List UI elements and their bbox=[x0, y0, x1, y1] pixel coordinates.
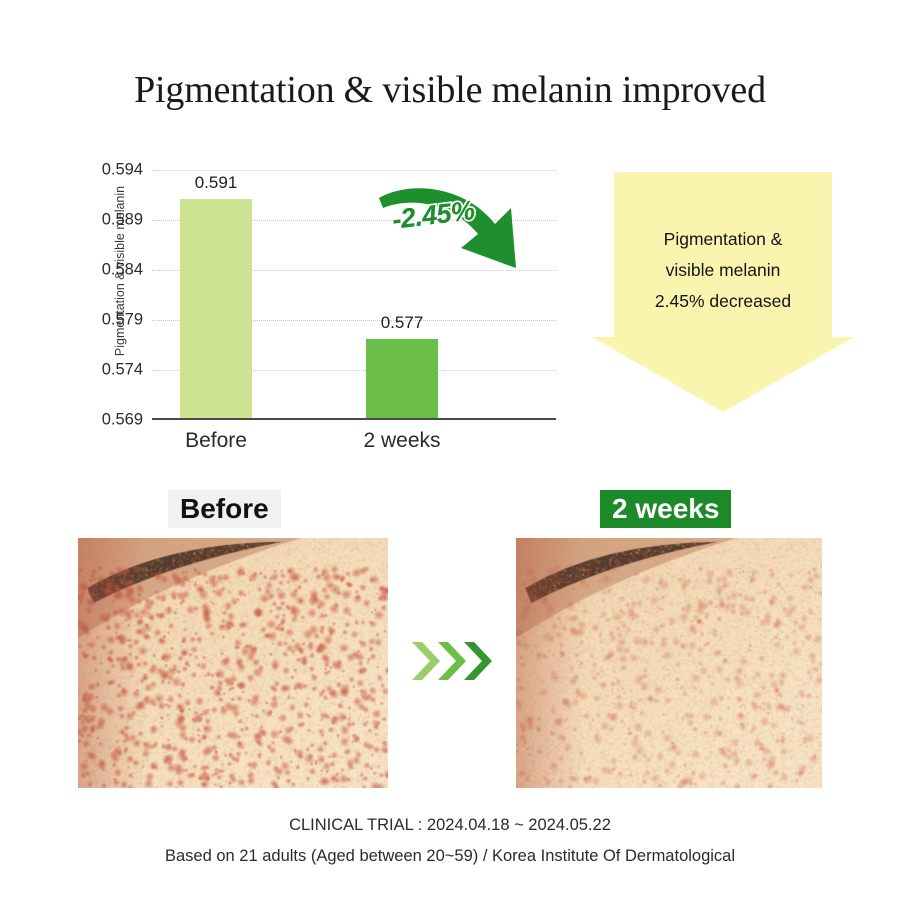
callout-line-2: visible melanin bbox=[592, 255, 854, 286]
x-tick-2weeks: 2 weeks bbox=[327, 429, 477, 453]
bar-chart: Pigmentation & visible melanin 0.5940.58… bbox=[62, 160, 562, 450]
bar-before: 0.591 bbox=[180, 199, 252, 419]
y-tick-label: 0.584 bbox=[102, 261, 143, 280]
chart-plot-area: 0.5940.5890.5840.5790.5740.569 0.591 0.5… bbox=[152, 170, 556, 420]
callout-line-1: Pigmentation & bbox=[592, 224, 854, 255]
y-tick-label: 0.574 bbox=[102, 361, 143, 380]
page-title: Pigmentation & visible melanin improved bbox=[0, 68, 900, 112]
skin-photo-after bbox=[516, 538, 822, 788]
y-tick-label: 0.594 bbox=[102, 161, 143, 180]
skin-photo-before bbox=[78, 538, 388, 788]
y-tick-label: 0.579 bbox=[102, 311, 143, 330]
y-tick-label: 0.589 bbox=[102, 211, 143, 230]
bar-value-before: 0.591 bbox=[195, 173, 238, 193]
gridline bbox=[152, 170, 556, 171]
bar-value-2weeks: 0.577 bbox=[381, 313, 424, 333]
footnote-subjects: Based on 21 adults (Aged between 20~59) … bbox=[0, 847, 900, 866]
chevrons-right-icon bbox=[408, 636, 496, 686]
before-badge: Before bbox=[168, 490, 281, 528]
callout-text: Pigmentation & visible melanin 2.45% dec… bbox=[592, 224, 854, 317]
x-tick-before: Before bbox=[141, 429, 291, 453]
callout-arrow: Pigmentation & visible melanin 2.45% dec… bbox=[592, 172, 854, 412]
y-tick-label: 0.569 bbox=[102, 411, 143, 430]
after-badge: 2 weeks bbox=[600, 490, 731, 528]
callout-line-3: 2.45% decreased bbox=[592, 286, 854, 317]
footnote-trial-dates: CLINICAL TRIAL : 2024.04.18 ~ 2024.05.22 bbox=[0, 816, 900, 835]
x-axis-line bbox=[152, 418, 556, 420]
bar-2weeks: 0.577 bbox=[366, 339, 438, 419]
delta-percent-label: -2.45% bbox=[390, 195, 476, 236]
